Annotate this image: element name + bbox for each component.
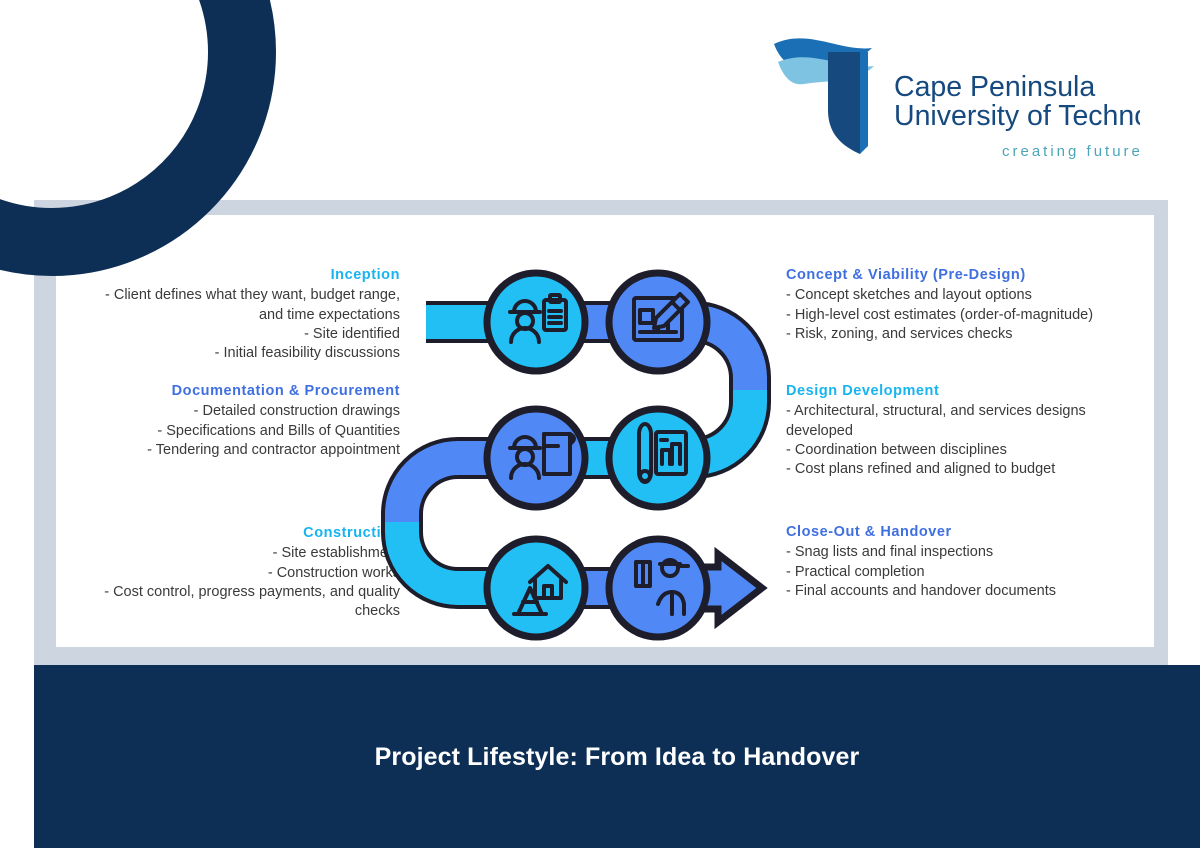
stage-bullet: - Snag lists and final inspections	[786, 543, 1126, 562]
stage-bullet: - Architectural, structural, and service…	[786, 402, 1126, 421]
stage-heading-inception: Inception	[60, 266, 400, 285]
bottom-banner: Project Lifestyle: From Idea to Handover	[34, 665, 1200, 848]
stage-heading-concept: Concept & Viability (Pre-Design)	[786, 266, 1146, 285]
stage-bullet: - Specifications and Bills of Quantities	[60, 422, 400, 441]
stage-heading-closeout: Close-Out & Handover	[786, 523, 1126, 542]
stage-text-concept: Concept & Viability (Pre-Design) - Conce…	[786, 266, 1146, 344]
stage-heading-design: Design Development	[786, 382, 1126, 401]
stage-bullet: checks	[60, 602, 400, 621]
stage-bullet: - Site establishment	[60, 544, 400, 563]
flow-node-design[interactable]	[609, 409, 707, 507]
slide-canvas: Cape Peninsula University of Technology …	[0, 0, 1200, 848]
stage-bullet: developed	[786, 422, 1126, 441]
stage-bullet: - Construction works	[60, 564, 400, 583]
banner-title: Project Lifestyle: From Idea to Handover	[34, 743, 1200, 772]
stage-text-closeout: Close-Out & Handover - Snag lists and fi…	[786, 523, 1126, 601]
stage-bullet: - Risk, zoning, and services checks	[786, 325, 1146, 344]
flow-node-documentation[interactable]	[487, 409, 585, 507]
stage-bullet: - Practical completion	[786, 563, 1126, 582]
stage-heading-documentation: Documentation & Procurement	[60, 382, 400, 401]
stage-bullet: - High-level cost estimates (order-of-ma…	[786, 306, 1146, 325]
stage-text-inception: Inception - Client defines what they wan…	[60, 266, 400, 363]
stage-text-documentation: Documentation & Procurement - Detailed c…	[60, 382, 400, 460]
stage-bullet: - Detailed construction drawings	[60, 402, 400, 421]
stage-heading-construction: Construction	[60, 524, 400, 543]
flow-node-closeout[interactable]	[609, 539, 707, 637]
stage-bullet: - Final accounts and handover documents	[786, 582, 1126, 601]
stage-bullet: - Concept sketches and layout options	[786, 286, 1146, 305]
stage-text-design: Design Development - Architectural, stru…	[786, 382, 1126, 479]
flow-node-construction[interactable]	[487, 539, 585, 637]
flow-node-inception[interactable]	[487, 273, 585, 371]
logo-mark-icon	[774, 38, 874, 154]
stage-bullet: - Coordination between disciplines	[786, 441, 1126, 460]
logo-tagline: creating futures	[1002, 143, 1140, 160]
logo-line1: Cape Peninsula	[894, 71, 1095, 103]
stage-bullet: - Cost control, progress payments, and q…	[60, 583, 400, 602]
logo-line2: University of Technology	[894, 100, 1140, 132]
stage-bullet: - Cost plans refined and aligned to budg…	[786, 460, 1126, 479]
flow-node-concept[interactable]	[609, 273, 707, 371]
stage-bullet: - Initial feasibility discussions	[60, 344, 400, 363]
stage-bullet: - Client defines what they want, budget …	[60, 286, 400, 305]
stage-bullet: - Site identified	[60, 325, 400, 344]
stage-text-construction: Construction - Site establishment - Cons…	[60, 524, 400, 621]
stage-bullet: and time expectations	[60, 306, 400, 325]
cput-logo: Cape Peninsula University of Technology …	[768, 26, 1140, 176]
process-flow-diagram	[418, 266, 778, 616]
stage-bullet: - Tendering and contractor appointment	[60, 441, 400, 460]
flow-segment-7-royal	[402, 458, 468, 522]
